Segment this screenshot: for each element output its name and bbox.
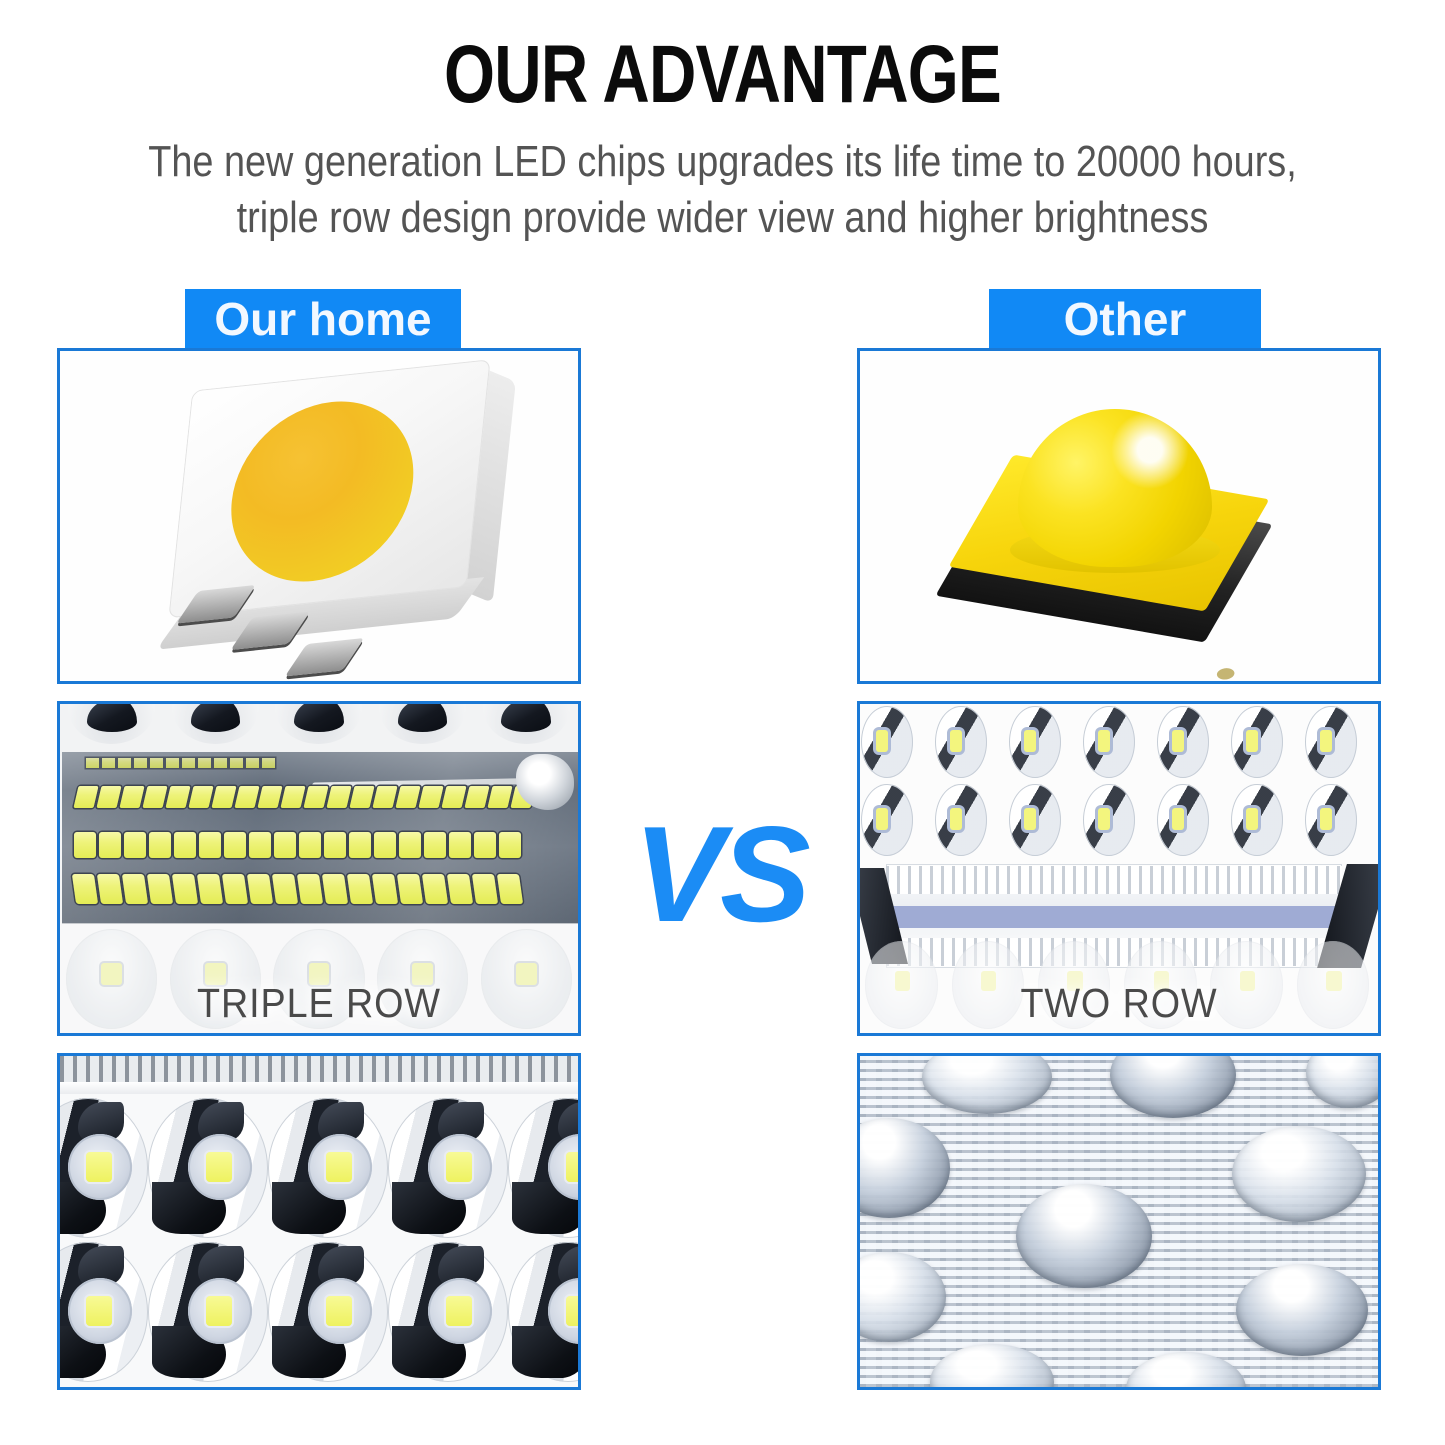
- lens-bump: [930, 1344, 1054, 1390]
- other-reflector-optics-panel: [857, 1053, 1381, 1390]
- our-reflector-optics-panel: [57, 1053, 581, 1390]
- reflector-cup: [267, 704, 371, 756]
- smd-top-face: [168, 359, 490, 618]
- led-row-1: [76, 786, 533, 808]
- fin-band: [886, 906, 1342, 928]
- fin-teeth: [886, 866, 1342, 894]
- reflector-cup: [146, 1096, 266, 1240]
- optic-row-1: [860, 704, 1378, 782]
- two-row-led-board-image: TWO ROW: [860, 704, 1378, 1033]
- lens-bump: [922, 1053, 1052, 1114]
- lens-bump: [1110, 1053, 1236, 1118]
- two-row-led-board-panel: TWO ROW: [857, 701, 1381, 1036]
- led-pcb-board: [62, 752, 578, 924]
- triple-row-caption: TRIPLE ROW: [81, 980, 558, 1027]
- reflector-cup: [1082, 704, 1156, 782]
- our-smd-led-chip-panel: [57, 348, 581, 684]
- lens-bump: [1232, 1126, 1366, 1222]
- led-die: [86, 1152, 112, 1182]
- reflector-cup: [934, 782, 1008, 860]
- triple-row-led-board-image: TRIPLE ROW: [60, 704, 578, 1033]
- optic-row-2: [860, 782, 1378, 860]
- reflector-cup: [266, 1240, 386, 1384]
- led-die: [446, 1296, 472, 1326]
- reflector-cup: [371, 704, 475, 756]
- reflector-cup: [1230, 782, 1304, 860]
- smd-solder-pad: [285, 638, 365, 677]
- our-reflector-optics-image: [60, 1056, 578, 1387]
- lens-bump: [1306, 1053, 1381, 1108]
- led-die: [206, 1152, 232, 1182]
- reflector-cup: [57, 1240, 146, 1384]
- led-die: [326, 1296, 352, 1326]
- smd-package-body: [165, 359, 490, 647]
- led-die: [326, 1152, 352, 1182]
- reflector-cup: [266, 1096, 386, 1240]
- lens-bump: [857, 1252, 946, 1342]
- vs-label: VS: [620, 806, 820, 942]
- housing-edge: [60, 1082, 578, 1094]
- our-smd-led-chip-image: [60, 351, 578, 681]
- reflector-cup: [1082, 782, 1156, 860]
- column-badge-our-home: Our home: [185, 289, 461, 349]
- two-row-caption: TWO ROW: [881, 980, 1358, 1027]
- housing-serrated-lip: [60, 1056, 578, 1082]
- other-high-power-led-chip-panel: [857, 348, 1381, 684]
- top-reflector-strip: [60, 704, 578, 756]
- reflector-cup: [1008, 704, 1082, 782]
- reflector-cup: [386, 1096, 506, 1240]
- reflector-cup: [1156, 704, 1230, 782]
- reflector-cup: [164, 704, 268, 756]
- lens-bump: [857, 1118, 950, 1218]
- reflector-row-1: [57, 1096, 581, 1240]
- reflector-cup: [860, 782, 934, 860]
- reflector-cup-grid: [57, 1096, 581, 1384]
- hp-mounting-hole: [1214, 667, 1237, 681]
- reflector-cup: [860, 704, 934, 782]
- led-die: [566, 1296, 581, 1326]
- other-high-power-led-chip-image: [860, 351, 1378, 681]
- led-row-3: [74, 874, 521, 904]
- column-badge-other: Other: [989, 289, 1261, 349]
- lens-bump: [1236, 1264, 1368, 1356]
- lens-bump: [1126, 1352, 1246, 1390]
- reflector-cup: [474, 704, 578, 756]
- reflector-cup: [60, 704, 164, 756]
- reflector-cup: [1156, 782, 1230, 860]
- reflector-row-2: [57, 1240, 581, 1384]
- smd-phosphor-dome: [222, 393, 422, 591]
- other-reflector-optics-image: [860, 1056, 1378, 1387]
- led-row-2: [74, 832, 521, 858]
- led-die: [446, 1152, 472, 1182]
- reflector-cup: [57, 1096, 146, 1240]
- reflector-cup: [506, 1096, 581, 1240]
- reflector-cup: [1230, 704, 1304, 782]
- led-die: [86, 1296, 112, 1326]
- triple-row-led-board-panel: TRIPLE ROW: [57, 701, 581, 1036]
- led-row-partial: [86, 758, 275, 768]
- reflector-cup: [386, 1240, 506, 1384]
- led-die: [206, 1296, 232, 1326]
- reflector-cup: [1008, 782, 1082, 860]
- reflector-cup: [1304, 704, 1378, 782]
- reflector-cup: [1304, 782, 1378, 860]
- reflector-cup: [506, 1240, 581, 1384]
- two-row-cup-grid: [860, 704, 1378, 860]
- reflector-cup: [146, 1240, 266, 1384]
- hp-yellow-dome-lens: [1018, 409, 1212, 567]
- led-die: [566, 1152, 581, 1182]
- lens-bump: [1016, 1184, 1152, 1288]
- page-subtitle: The new generation LED chips upgrades it…: [144, 134, 1301, 247]
- reflector-cup: [934, 704, 1008, 782]
- hp-mounting-hole: [1025, 683, 1048, 684]
- page-title: OUR ADVANTAGE: [145, 34, 1301, 116]
